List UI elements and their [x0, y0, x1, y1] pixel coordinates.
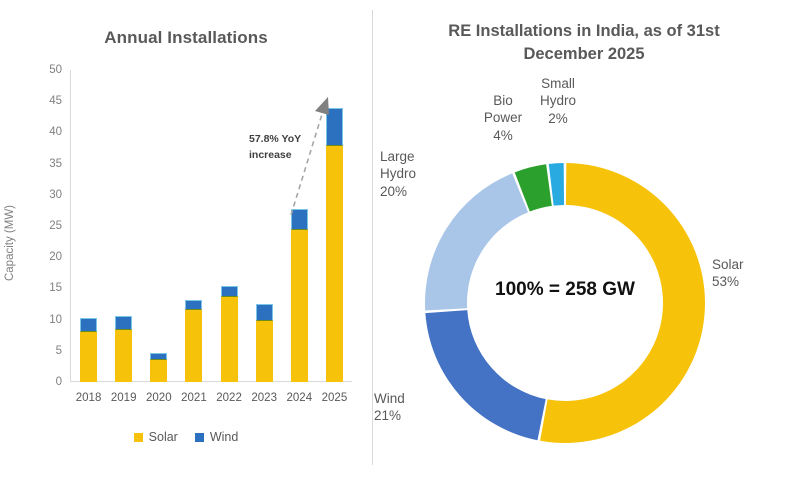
- bar-segment-solar[interactable]: [80, 332, 97, 382]
- legend-item-label: Wind: [210, 430, 238, 444]
- x-axis-tick: 2025: [322, 392, 348, 404]
- y-axis-tick: 25: [28, 220, 62, 232]
- y-axis-tick: 40: [28, 126, 62, 138]
- x-axis-tick: 2020: [146, 392, 172, 404]
- legend-item-label: Solar: [149, 430, 178, 444]
- y-axis-title: Capacity (MW): [4, 205, 16, 281]
- donut-slice-small-hydro[interactable]: [549, 163, 564, 206]
- bar-segment-wind[interactable]: [80, 318, 97, 332]
- square-swatch-icon: [134, 433, 143, 442]
- y-axis-tick: 0: [28, 376, 62, 388]
- donut-label-large-hydro-line1: Large: [380, 148, 416, 165]
- y-axis-tick: 20: [28, 251, 62, 263]
- y-axis-tick: 15: [28, 282, 62, 294]
- dashboard-root: Annual Installations Capacity (MW) 05101…: [0, 0, 795, 486]
- donut-label-large-hydro: Large Hydro 20%: [380, 148, 416, 200]
- bar-group[interactable]: 2023: [256, 70, 273, 382]
- donut-wrapper: [372, 0, 795, 486]
- bar-group[interactable]: 2018: [80, 70, 97, 382]
- bar-chart-legend: SolarWind: [0, 430, 372, 444]
- donut-label-small-hydro-pct: 2%: [528, 110, 588, 127]
- bar-segment-solar[interactable]: [291, 230, 308, 382]
- x-axis-tick: 2019: [111, 392, 137, 404]
- donut-label-small-hydro: Small Hydro 2%: [528, 75, 588, 127]
- bar-chart-title: Annual Installations: [0, 28, 372, 48]
- bar-segment-solar[interactable]: [221, 297, 238, 382]
- bar-group[interactable]: 2025: [326, 70, 343, 382]
- bar-segment-wind[interactable]: [256, 304, 273, 321]
- donut-label-bio-power-pct: 4%: [477, 127, 529, 144]
- y-axis-tick: 50: [28, 64, 62, 76]
- donut-label-bio-power-line1: Bio: [477, 92, 529, 109]
- y-axis-tick: 10: [28, 314, 62, 326]
- bar-segment-wind[interactable]: [291, 209, 308, 231]
- donut-label-solar-name: Solar: [712, 256, 744, 273]
- donut-center-total-label: 100% = 258 GW: [465, 279, 665, 301]
- donut-label-large-hydro-line2: Hydro: [380, 165, 416, 182]
- annual-installations-chart-panel: Annual Installations Capacity (MW) 05101…: [0, 0, 372, 486]
- square-swatch-icon: [195, 433, 204, 442]
- donut-label-wind-name: Wind: [374, 390, 405, 407]
- bar-segment-wind[interactable]: [326, 108, 343, 146]
- bar-group[interactable]: 2021: [185, 70, 202, 382]
- bar-segment-solar[interactable]: [185, 310, 202, 382]
- donut-label-small-hydro-line1: Small: [528, 75, 588, 92]
- x-axis-tick: 2018: [76, 392, 102, 404]
- y-axis-tick: 35: [28, 158, 62, 170]
- yoy-annotation-line2: increase: [249, 147, 311, 163]
- donut-label-solar-pct: 53%: [712, 273, 744, 290]
- donut-slice-solar[interactable]: [540, 163, 705, 443]
- bar-segment-wind[interactable]: [221, 286, 238, 297]
- x-axis-tick: 2021: [181, 392, 207, 404]
- x-axis-tick: 2022: [216, 392, 242, 404]
- yoy-annotation-text: 57.8% YoY increase: [249, 131, 311, 164]
- x-axis-tick: 2024: [287, 392, 313, 404]
- bar-group[interactable]: 2024: [291, 70, 308, 382]
- donut-chart-graphic: [372, 0, 795, 486]
- bar-group[interactable]: 2020: [150, 70, 167, 382]
- y-axis-tick: 45: [28, 95, 62, 107]
- bar-plot-area: 05101520253035404550 2018201920202021202…: [70, 70, 352, 382]
- bar-segment-solar[interactable]: [115, 330, 132, 382]
- donut-label-solar: Solar 53%: [712, 256, 744, 291]
- bar-segment-wind[interactable]: [115, 316, 132, 330]
- donut-label-wind: Wind 21%: [374, 390, 405, 425]
- bar-segment-solar[interactable]: [326, 146, 343, 382]
- x-axis-tick: 2023: [251, 392, 277, 404]
- legend-item[interactable]: Wind: [195, 430, 238, 444]
- legend-item[interactable]: Solar: [134, 430, 178, 444]
- donut-slice-wind[interactable]: [425, 310, 545, 440]
- bar-segment-solar[interactable]: [256, 321, 273, 382]
- bar-segment-wind[interactable]: [150, 353, 167, 360]
- bar-segment-solar[interactable]: [150, 360, 167, 382]
- donut-label-bio-power: Bio Power 4%: [477, 92, 529, 144]
- bar-group[interactable]: 2019: [115, 70, 132, 382]
- bar-group[interactable]: 2022: [221, 70, 238, 382]
- y-axis-tick: 30: [28, 189, 62, 201]
- donut-label-small-hydro-line2: Hydro: [528, 92, 588, 109]
- re-installations-donut-panel: RE Installations in India, as of 31st De…: [372, 0, 795, 486]
- donut-label-wind-pct: 21%: [374, 407, 405, 424]
- yoy-annotation-line1: 57.8% YoY: [249, 131, 311, 147]
- donut-label-large-hydro-pct: 20%: [380, 183, 416, 200]
- bar-series-group: 20182019202020212022202320242025: [71, 70, 352, 382]
- donut-label-bio-power-line2: Power: [477, 109, 529, 126]
- bar-segment-wind[interactable]: [185, 300, 202, 309]
- y-axis-tick: 5: [28, 345, 62, 357]
